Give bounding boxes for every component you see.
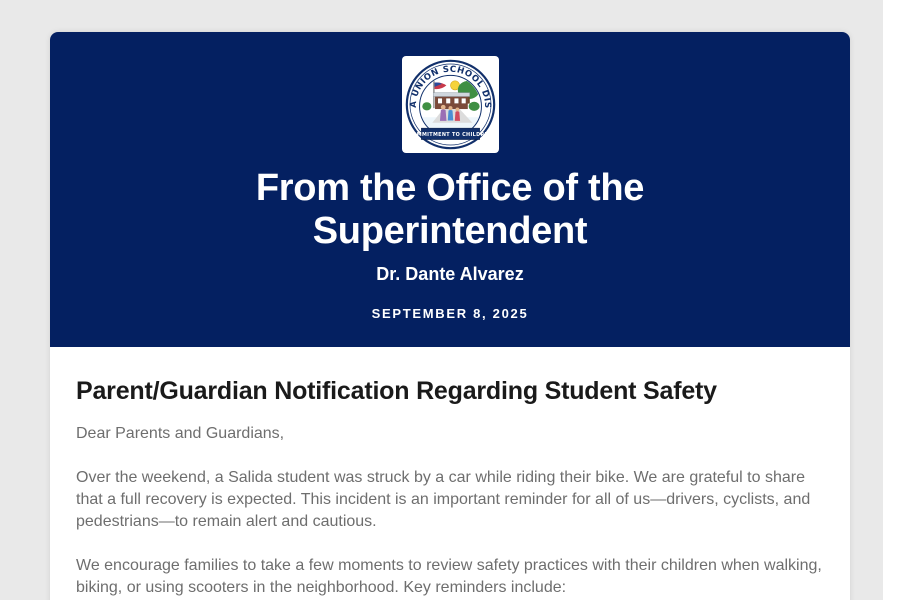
newsletter-card: SALIDA UNION SCHOOL DISTRICT	[50, 32, 850, 600]
newsletter-body: Parent/Guardian Notification Regarding S…	[50, 347, 850, 600]
district-seal-icon: SALIDA UNION SCHOOL DISTRICT	[402, 56, 499, 153]
scrollbar-track[interactable]	[883, 0, 900, 600]
superintendent-name: Dr. Dante Alvarez	[90, 262, 810, 286]
newsletter-date: SEPTEMBER 8, 2025	[90, 306, 810, 321]
newsletter-header: SALIDA UNION SCHOOL DISTRICT	[50, 32, 850, 347]
body-paragraph-1: Over the weekend, a Salida student was s…	[76, 467, 824, 533]
svg-text:COMMITMENT TO CHILDREN: COMMITMENT TO CHILDREN	[408, 132, 492, 138]
body-paragraph-2: We encourage families to take a few mome…	[76, 555, 824, 599]
salutation-text: Dear Parents and Guardians,	[76, 423, 824, 445]
page-viewport: SALIDA UNION SCHOOL DISTRICT	[0, 0, 900, 600]
newsletter-title: From the Office of the Superintendent	[150, 167, 750, 253]
section-heading: Parent/Guardian Notification Regarding S…	[76, 375, 824, 407]
